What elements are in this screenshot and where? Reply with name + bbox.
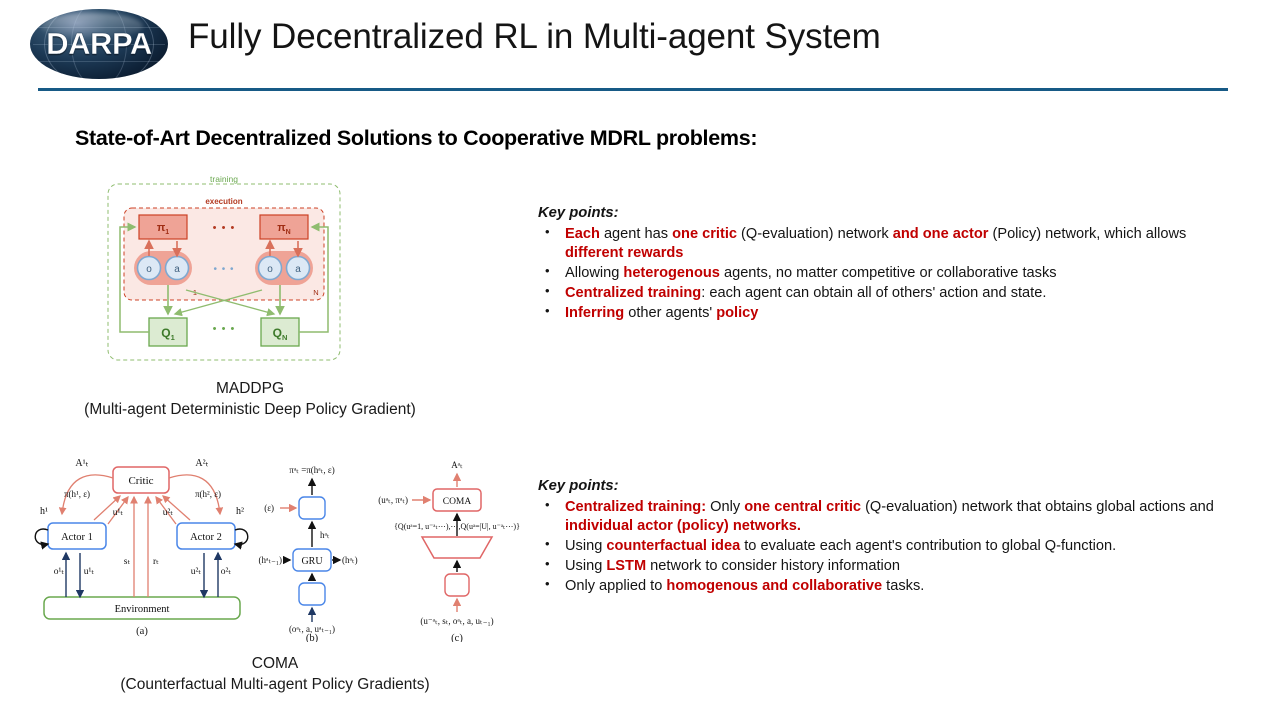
highlighted-text: Centralized training (565, 285, 701, 301)
keypoints-maddpg-title: Key points: (538, 204, 1226, 223)
h1-label: h¹ (40, 506, 48, 517)
list-item: •Only applied to homogenous and collabor… (538, 577, 1226, 596)
critic-label: Critic (128, 475, 153, 487)
h-out-label: (hᵃₜ) (342, 555, 358, 565)
body-text: to evaluate each agent's contribution to… (740, 538, 1116, 554)
panel-b-top-label: πᵃₜ =π(hᵃₜ, ε) (289, 465, 334, 475)
list-item: •Inferring other agents' policy (538, 304, 1226, 323)
maddpg-caption-line2: (Multi-agent Deterministic Deep Policy G… (20, 400, 480, 421)
coma-caption-line2: (Counterfactual Multi-agent Policy Gradi… (60, 675, 490, 696)
panel-c-left-label: (uᵃₜ, πᵃₜ) (378, 495, 408, 505)
body-text: : each agent can obtain all of others' a… (701, 285, 1046, 301)
bullet-glyph: • (545, 224, 550, 241)
u2-label: u²ₜ (163, 508, 174, 518)
highlighted-text: Each (565, 226, 600, 242)
body-text: other agents' (624, 305, 716, 321)
coma-caption-line1: COMA (60, 654, 490, 675)
maddpg-caption-line1: MADDPG (20, 379, 480, 400)
agent-ellipsis: • • • (213, 264, 234, 275)
panel-b-label: (b) (306, 633, 319, 642)
epsilon-label: (ε) (264, 503, 274, 513)
darpa-wordmark: DARPA (30, 9, 168, 79)
highlighted-text: one critic (672, 226, 737, 242)
body-text: network to consider history information (646, 558, 900, 574)
bullet-glyph: • (545, 283, 550, 300)
panel-b-bottom-cell (299, 583, 325, 605)
highlighted-text: policy (716, 305, 758, 321)
highlighted-text: one central critic (744, 499, 861, 515)
highlighted-text: counterfactual idea (606, 538, 740, 554)
panel-b-top-cell (299, 497, 325, 519)
action-n-label: a (295, 264, 301, 275)
keypoints-maddpg-list: •Each agent has one critic (Q-evaluation… (538, 225, 1226, 323)
action-1-label: a (174, 264, 180, 275)
highlighted-text: individual actor (policy) networks. (565, 518, 801, 534)
pi-2-label: π(h², ε) (195, 489, 221, 499)
body-text: agents, no matter competitive or collabo… (720, 265, 1057, 281)
highlighted-text: and one actor (893, 226, 989, 242)
u2-env-label: u²ₜ (191, 567, 202, 577)
pi-1-label: π(h¹, ε) (64, 489, 90, 499)
h2-label: h² (236, 506, 244, 517)
section-heading: State-of-Art Decentralized Solutions to … (75, 126, 757, 151)
list-item: •Centralized training: each agent can ob… (538, 284, 1226, 303)
s-t-label: sₜ (124, 557, 131, 567)
body-text: tasks. (882, 578, 924, 594)
title-divider (38, 88, 1228, 91)
keypoints-coma-title: Key points: (538, 477, 1226, 496)
training-label: training (210, 174, 238, 184)
q-values-label: {Q(uᵃ=1, u⁻ᵃₜ⋯),⋯,Q(uᵃ=|U|, u⁻ᵃₜ⋯)} (394, 522, 520, 531)
darpa-logo: DARPA (30, 9, 168, 79)
q-ellipsis: • • • (213, 323, 236, 335)
maddpg-caption: MADDPG (Multi-agent Deterministic Deep P… (20, 379, 480, 421)
actor-2-self-loop (235, 529, 248, 544)
page-title: Fully Decentralized RL in Multi-agent Sy… (188, 17, 881, 57)
body-text: (Q-evaluation) network (737, 226, 893, 242)
list-item: •Centralized training: Only one central … (538, 498, 1226, 536)
body-text: (Policy) network, which allows (988, 226, 1186, 242)
body-text: Only (706, 499, 744, 515)
body-text: Using (565, 558, 606, 574)
h-prev-label: (hᵃₜ₋₁) (259, 555, 283, 565)
bullet-glyph: • (545, 576, 550, 593)
advantage-1-label: A¹ₜ (75, 458, 88, 469)
highlighted-text: heterogenous (623, 265, 720, 281)
list-item: •Each agent has one critic (Q-evaluation… (538, 225, 1226, 263)
observation-n-label: o (267, 264, 273, 275)
observation-1-label: o (146, 264, 152, 275)
panel-c-top-label: Aᵃₜ (451, 460, 463, 470)
list-item: •Using counterfactual idea to evaluate e… (538, 537, 1226, 556)
keypoints-coma-list: •Centralized training: Only one central … (538, 498, 1226, 596)
actor-1-label: Actor 1 (61, 532, 93, 543)
highlighted-text: different rewards (565, 245, 683, 261)
bullet-glyph: • (545, 556, 550, 573)
panel-a-label: (a) (136, 626, 148, 637)
execution-label: execution (205, 197, 242, 206)
critic-trapezoid (422, 537, 492, 558)
environment-label: Environment (115, 604, 170, 615)
body-text: Allowing (565, 265, 623, 281)
o1-label: o¹ₜ (54, 567, 65, 577)
highlighted-text: Centralized training: (565, 499, 706, 515)
coma-panel-c: COMA Aᵃₜ (uᵃₜ, πᵃₜ) {Q(uᵃ=1, u⁻ᵃₜ⋯),⋯,Q(… (378, 460, 520, 642)
highlighted-text: Inferring (565, 305, 624, 321)
gru-label: GRU (301, 556, 323, 567)
highlighted-text: LSTM (606, 558, 646, 574)
bullet-glyph: • (545, 263, 550, 280)
body-text: Only applied to (565, 578, 666, 594)
actor-2-label: Actor 2 (190, 532, 222, 543)
u1-label: u¹ₜ (113, 508, 124, 518)
coma-panel-a: Critic Actor 1 Actor 2 Environment h¹ h²… (35, 458, 248, 637)
u1-env-label: u¹ₜ (84, 567, 95, 577)
coma-caption: COMA (Counterfactual Multi-agent Policy … (60, 654, 490, 696)
coma-box-label: COMA (443, 497, 472, 507)
keypoints-coma: Key points: •Centralized training: Only … (538, 477, 1226, 597)
highlighted-text: homogenous and collaborative (666, 578, 882, 594)
body-text: (Q-evaluation) network that obtains glob… (861, 499, 1214, 515)
coma-panel-b: GRU πᵃₜ =π(hᵃₜ, ε) (ε) hᵃₜ (hᵃₜ₋₁) (hᵃₜ)… (259, 465, 358, 642)
bullet-glyph: • (545, 536, 550, 553)
actor-1-self-loop (35, 529, 48, 544)
body-text: Using (565, 538, 606, 554)
advantage-2-label: A²ₜ (195, 458, 208, 469)
list-item: •Allowing heterogenous agents, no matter… (538, 264, 1226, 283)
panel-c-input-cell (445, 574, 469, 596)
panel-c-in-label: (u⁻ᵃₜ, sₜ, oᵃₜ, a, uₜ₋₁) (420, 616, 493, 626)
maddpg-diagram: training execution π1 o a 1 πN o a N • •… (98, 172, 350, 370)
panel-c-label: (c) (451, 633, 463, 642)
body-text: agent has (600, 226, 672, 242)
slide-header: DARPA Fully Decentralized RL in Multi-ag… (0, 0, 1280, 96)
bullet-glyph: • (545, 303, 550, 320)
r-t-label: rₜ (153, 557, 159, 567)
coma-diagram: Critic Actor 1 Actor 2 Environment h¹ h²… (22, 452, 522, 642)
policy-ellipsis: • • • (213, 222, 236, 234)
keypoints-maddpg: Key points: •Each agent has one critic (… (538, 204, 1226, 324)
agent-n-index: N (313, 288, 318, 297)
h-t-label: hᵃₜ (320, 530, 330, 540)
list-item: •Using LSTM network to consider history … (538, 557, 1226, 576)
bullet-glyph: • (545, 497, 550, 514)
o2-label: o²ₜ (221, 567, 232, 577)
